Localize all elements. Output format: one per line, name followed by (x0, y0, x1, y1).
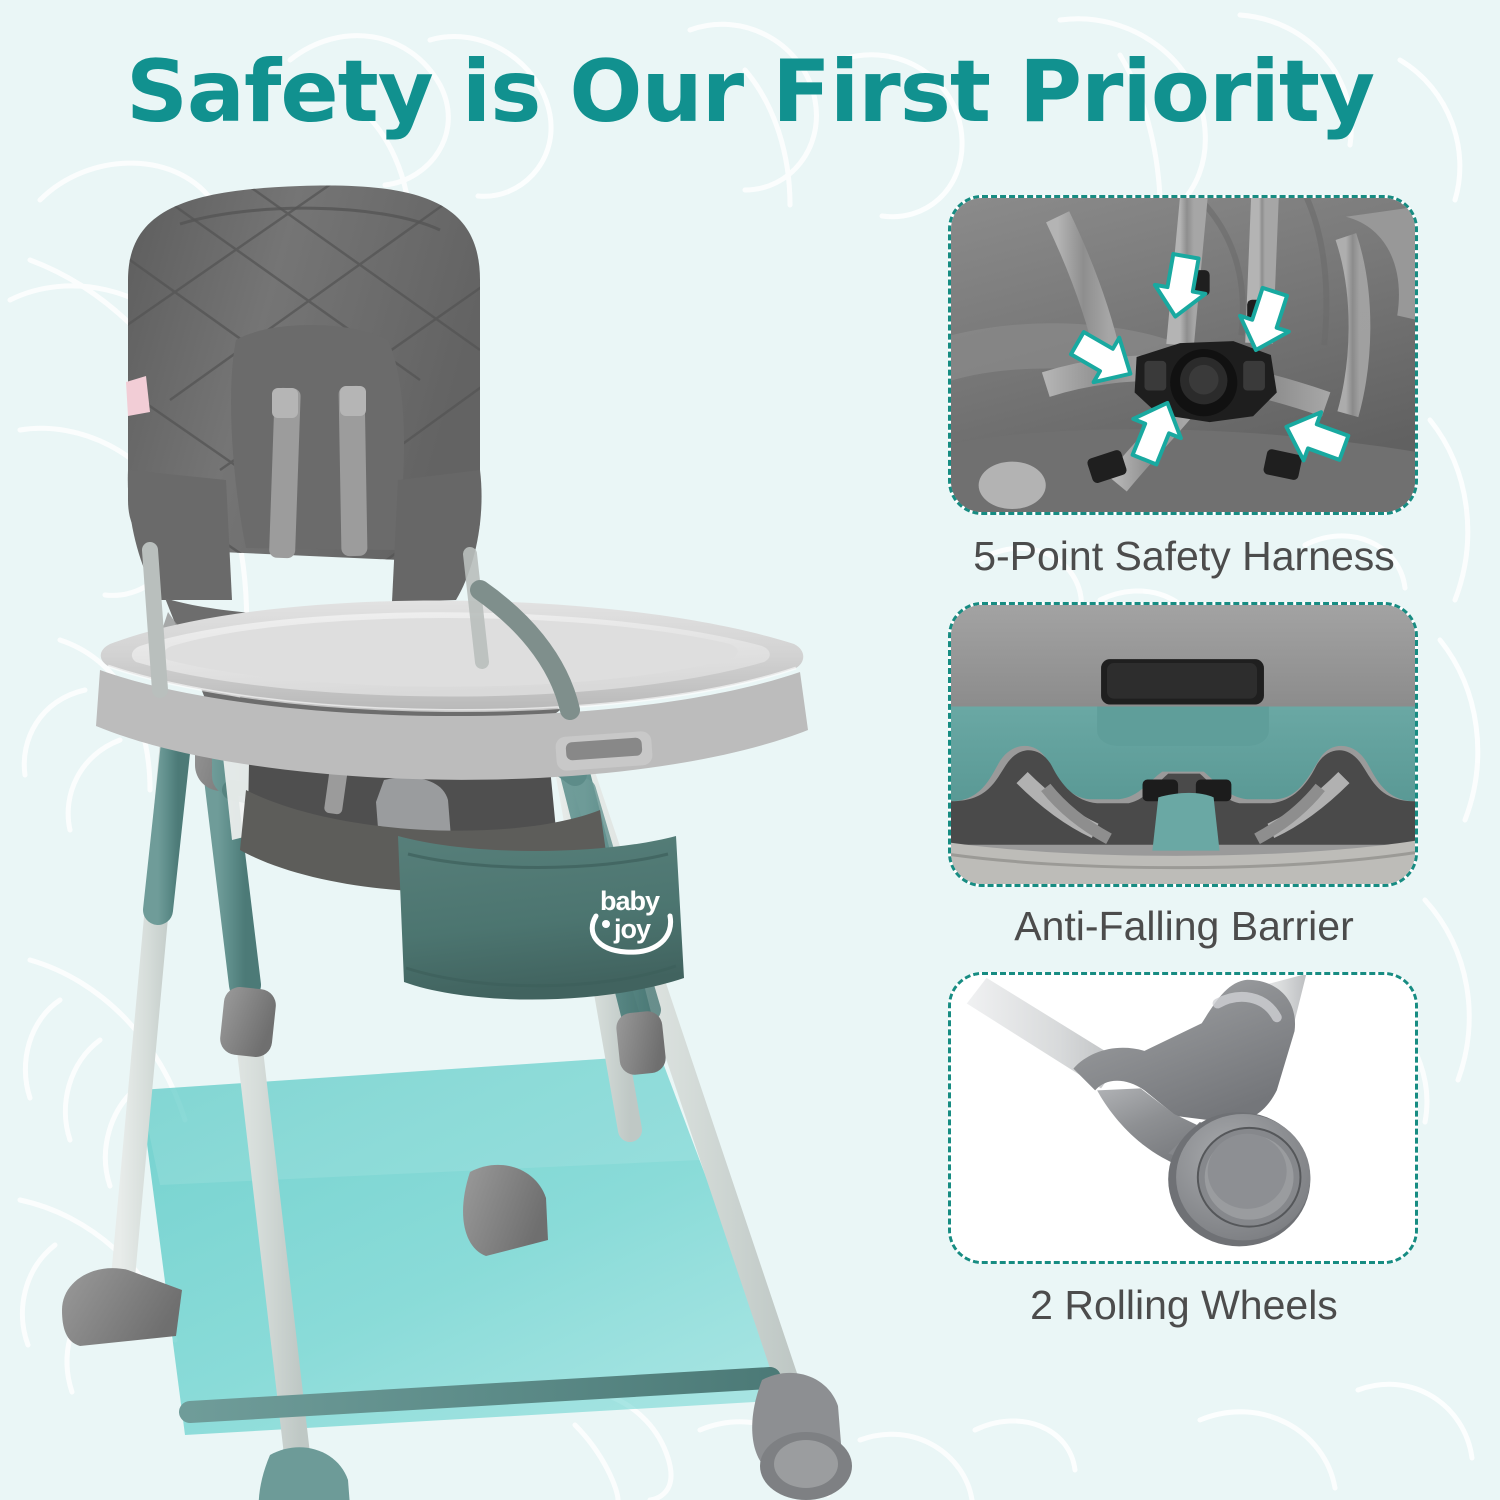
high-chair-illustration: baby joy (0, 150, 930, 1500)
anti-falling-barrier-panel: baby joy (398, 836, 684, 1000)
svg-text:joy: joy (613, 914, 651, 944)
harness-caption: 5-Point Safety Harness (948, 533, 1420, 580)
brand-tag (126, 376, 150, 416)
leg-sleeve-left-rear (158, 725, 178, 910)
wheel (1168, 1112, 1310, 1246)
feature-wheels: 2 Rolling Wheels (948, 972, 1420, 1329)
front-foot-right-wheel (752, 1373, 852, 1500)
seat-backrest (30, 150, 600, 610)
front-foot-left-wheel (259, 1447, 360, 1500)
page-title: Safety is Our First Priority (0, 42, 1500, 142)
svg-text:baby: baby (600, 886, 660, 916)
harness-buckle-icon (951, 198, 1415, 512)
harness-panel[interactable] (948, 195, 1418, 515)
feature-panel-column: 5-Point Safety Harness (948, 195, 1420, 1351)
leg-clamp-right (615, 1010, 667, 1076)
feature-barrier: Anti-Falling Barrier (948, 602, 1420, 950)
barrier-caption: Anti-Falling Barrier (948, 903, 1420, 950)
caster-wheel-icon (951, 975, 1415, 1261)
backrest-post-left (150, 550, 160, 690)
wheels-panel[interactable] (948, 972, 1418, 1264)
rear-foot-left (62, 1268, 182, 1346)
product-hero-image: baby joy (0, 150, 930, 1500)
barrier-panel[interactable] (948, 602, 1418, 887)
crotch-post (1152, 793, 1219, 851)
leg-clamp-left (219, 985, 278, 1058)
feature-harness: 5-Point Safety Harness (948, 195, 1420, 580)
feeding-tray (96, 600, 808, 779)
wheels-caption: 2 Rolling Wheels (948, 1282, 1420, 1329)
anti-falling-barrier-icon (951, 605, 1415, 884)
